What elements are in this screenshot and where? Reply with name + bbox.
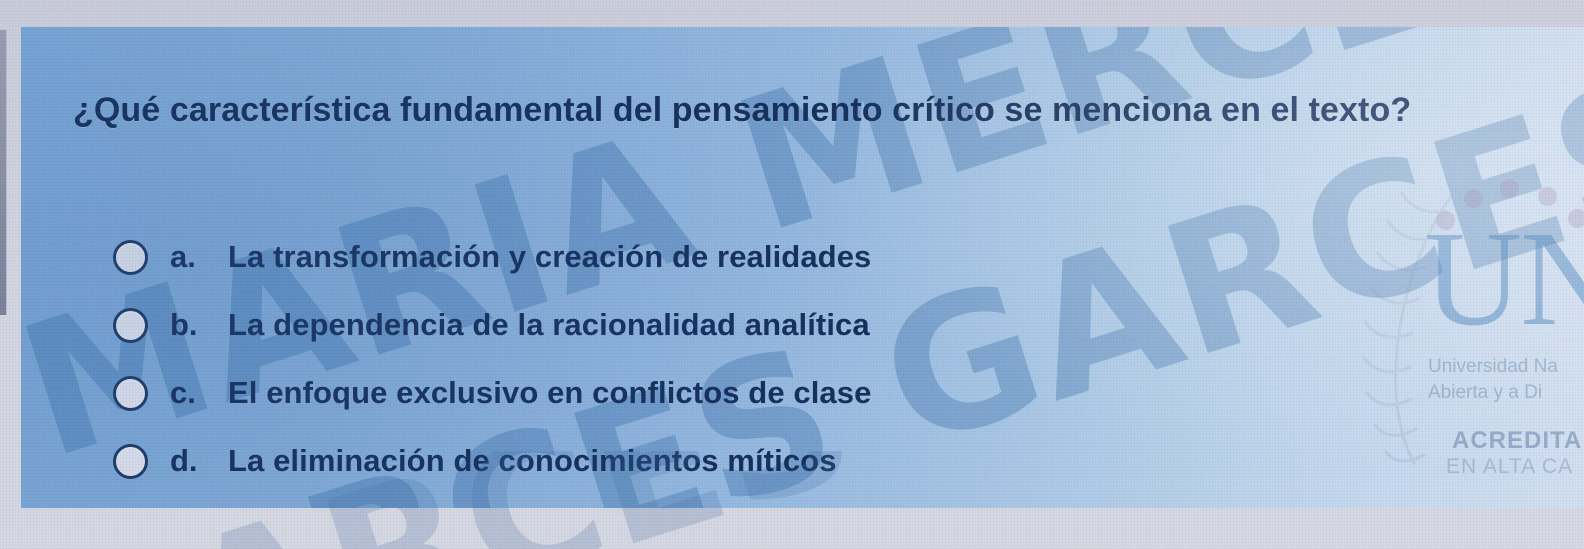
logo-dot-1 [1436,211,1455,230]
logo-subtitle-line-2: Abierta y a Di [1428,382,1542,404]
radio-button-d[interactable] [113,444,148,479]
option-label-a: La transformación y creación de realidad… [228,239,871,275]
logo-dots [1434,173,1584,229]
quiz-screen: MARIA MERCEDES GARCES GARCES ¿Qué caract… [0,0,1584,549]
question-text: ¿Qué característica fundamental del pens… [73,89,1493,132]
logo-dot-4 [1538,187,1557,206]
option-letter-c: c. [170,375,228,411]
radio-button-b[interactable] [113,308,148,343]
radio-button-a[interactable] [113,240,148,275]
logo-subtitle-line-1: Universidad Na [1428,356,1558,378]
scrollbar-track[interactable] [0,30,7,315]
option-letter-d: d. [170,443,228,479]
option-letter-a: a. [170,239,228,275]
logo-dot-3 [1500,179,1519,198]
option-label-d: La eliminación de conocimientos míticos [228,443,837,479]
option-label-b: La dependencia de la racionalidad analít… [228,307,870,343]
logo-dot-5 [1568,209,1584,228]
option-letter-b: b. [170,307,228,343]
logo-accreditation-line-1: ACREDITA [1452,427,1582,455]
option-row-a[interactable]: a. La transformación y creación de reali… [113,223,1293,291]
option-row-d[interactable]: d. La eliminación de conocimientos mític… [113,427,1293,495]
radio-button-c[interactable] [113,376,148,411]
unad-logo: UNA Universidad Na Abierta y a Di ACREDI… [1356,173,1584,473]
laurel-wreath-icon [1356,181,1476,473]
question-card: MARIA MERCEDES GARCES GARCES ¿Qué caract… [21,27,1584,508]
option-row-c[interactable]: c. El enfoque exclusivo en conflictos de… [113,359,1293,427]
logo-monogram: UNA [1424,211,1584,347]
logo-dot-2 [1464,189,1483,208]
logo-accreditation-line-2: EN ALTA CA [1446,455,1573,479]
option-row-b[interactable]: b. La dependencia de la racionalidad ana… [113,291,1293,359]
options-list: a. La transformación y creación de reali… [113,223,1293,495]
option-label-c: El enfoque exclusivo en conflictos de cl… [228,375,871,411]
